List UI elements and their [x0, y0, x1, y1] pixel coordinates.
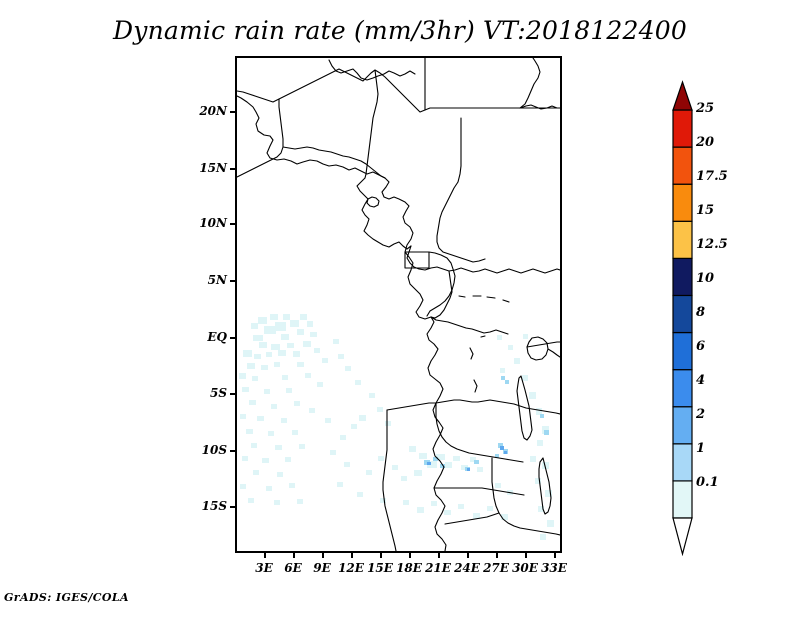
x-tick-mark [351, 553, 353, 558]
colorbar-graphic [660, 76, 790, 556]
x-tick-mark [525, 553, 527, 558]
y-tick-mark [230, 506, 235, 508]
colorbar-band [673, 481, 692, 518]
colorbar-band [673, 333, 692, 370]
x-tick-mark [380, 553, 382, 558]
colorbar-band [673, 444, 692, 481]
colorbar-tick-label: 2 [696, 407, 705, 422]
y-tick-mark [230, 450, 235, 452]
colorbar-band [673, 258, 692, 295]
colorbar-band [673, 221, 692, 258]
colorbar-tick-label: 6 [696, 339, 705, 354]
colorbar-band [673, 407, 692, 444]
colorbar-tick-label: 4 [696, 373, 705, 388]
x-tick-mark [438, 553, 440, 558]
colorbar-band [673, 110, 692, 147]
colorbar-tick-label: 25 [696, 101, 714, 116]
colorbar-bottom-arrow [673, 518, 692, 554]
map-plot-area [235, 56, 562, 553]
colorbar: 252017.51512.510864210.1 [660, 76, 790, 556]
colorbar-band [673, 295, 692, 332]
y-tick-label: 20N [199, 104, 227, 118]
y-tick-label: 10N [199, 216, 227, 230]
x-tick-mark [496, 553, 498, 558]
colorbar-tick-label: 1 [696, 441, 705, 456]
y-tick-mark [230, 393, 235, 395]
colorbar-band [673, 184, 692, 221]
colorbar-tick-label: 10 [696, 271, 714, 286]
y-tick-label: EQ [207, 330, 227, 344]
colorbar-top-arrow [673, 82, 692, 110]
x-tick-mark [293, 553, 295, 558]
colorbar-tick-label: 8 [696, 305, 705, 320]
colorbar-tick-label: 15 [696, 203, 714, 218]
grads-plot-canvas: Dynamic rain rate (mm/3hr) VT:2018122400… [0, 0, 800, 618]
coastline-and-border-layer [237, 58, 560, 551]
y-tick-mark [230, 111, 235, 113]
y-tick-label: 15S [202, 499, 227, 513]
colorbar-band [673, 370, 692, 407]
colorbar-tick-label: 0.1 [696, 475, 719, 490]
y-tick-mark [230, 280, 235, 282]
colorbar-tick-label: 20 [696, 135, 714, 150]
colorbar-tick-label: 12.5 [696, 237, 728, 252]
colorbar-tick-label: 17.5 [696, 169, 728, 184]
x-tick-label: 33E [534, 561, 574, 575]
y-tick-label: 5N [208, 273, 227, 287]
x-tick-mark [264, 553, 266, 558]
x-tick-mark [322, 553, 324, 558]
y-tick-label: 10S [202, 443, 227, 457]
x-tick-mark [554, 553, 556, 558]
y-tick-mark [230, 337, 235, 339]
colorbar-bands [673, 82, 692, 554]
grads-credit-label: GrADS: IGES/COLA [4, 591, 129, 604]
y-tick-mark [230, 223, 235, 225]
rain-shading-layer [239, 314, 554, 540]
map-graphic [237, 58, 560, 551]
x-tick-mark [467, 553, 469, 558]
colorbar-band [673, 147, 692, 184]
page-title: Dynamic rain rate (mm/3hr) VT:2018122400 [0, 16, 800, 45]
x-tick-mark [409, 553, 411, 558]
y-tick-label: 15N [199, 161, 227, 175]
y-tick-mark [230, 168, 235, 170]
y-tick-label: 5S [210, 386, 227, 400]
